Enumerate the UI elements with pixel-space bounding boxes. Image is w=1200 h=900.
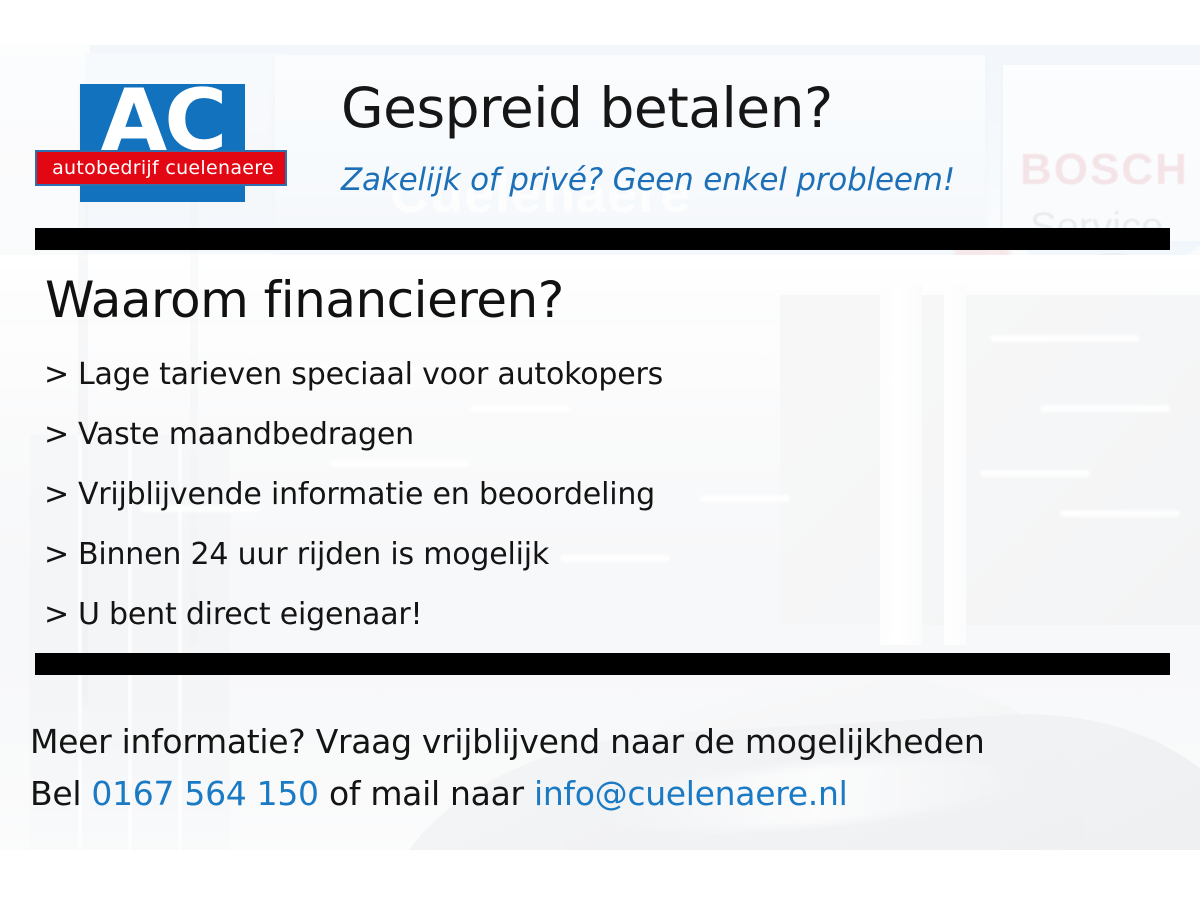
divider-rule-top [35, 228, 1170, 250]
email-address-link[interactable]: info@cuelenaere.nl [534, 774, 847, 813]
bullet-marker-icon: > [44, 537, 69, 572]
bullet-marker-icon: > [44, 357, 69, 392]
list-item-label: Binnen 24 uur rijden is mogelijk [78, 537, 549, 572]
financing-promo-poster: Cuelenaere BOSCH Service [0, 0, 1200, 900]
list-item: >Vrijblijvende informatie en beoordeling [44, 465, 944, 525]
list-item: >U bent direct eigenaar! [44, 585, 944, 645]
footer-mail-connector: of mail naar [319, 774, 534, 813]
list-item: >Lage tarieven speciaal voor autokopers [44, 345, 944, 405]
phone-number-link[interactable]: 0167 564 150 [91, 774, 318, 813]
footer-contact-line: Bel 0167 564 150 of mail naar info@cuele… [30, 768, 1170, 820]
list-item: >Vaste maandbedragen [44, 405, 944, 465]
list-item-label: Vrijblijvende informatie en beoordeling [78, 477, 655, 512]
logo-red-banner: autobedrijf cuelenaere [35, 150, 287, 186]
list-item-label: Vaste maandbedragen [78, 417, 414, 452]
section-title-waarom-financieren: Waarom financieren? [45, 271, 564, 329]
divider-rule-bottom [35, 653, 1170, 675]
ac-autobedrijf-cuelenaere-logo: AC autobedrijf cuelenaere [35, 84, 290, 202]
bullet-marker-icon: > [44, 417, 69, 452]
list-item-label: Lage tarieven speciaal voor autokopers [78, 357, 663, 392]
poster-headline: Gespreid betalen? [341, 80, 833, 138]
benefits-list: >Lage tarieven speciaal voor autokopers … [44, 345, 944, 645]
poster-subheadline: Zakelijk of privé? Geen enkel probleem! [341, 162, 955, 198]
bullet-marker-icon: > [44, 477, 69, 512]
logo-banner-label: autobedrijf cuelenaere [37, 152, 289, 188]
bullet-marker-icon: > [44, 597, 69, 632]
contact-footer: Meer informatie? Vraag vrijblijvend naar… [30, 716, 1170, 820]
footer-invitation-line: Meer informatie? Vraag vrijblijvend naar… [30, 716, 1170, 768]
poster-content: AC autobedrijf cuelenaere Gespreid betal… [0, 0, 1200, 900]
list-item: >Binnen 24 uur rijden is mogelijk [44, 525, 944, 585]
footer-call-prefix: Bel [30, 774, 91, 813]
list-item-label: U bent direct eigenaar! [78, 597, 422, 632]
